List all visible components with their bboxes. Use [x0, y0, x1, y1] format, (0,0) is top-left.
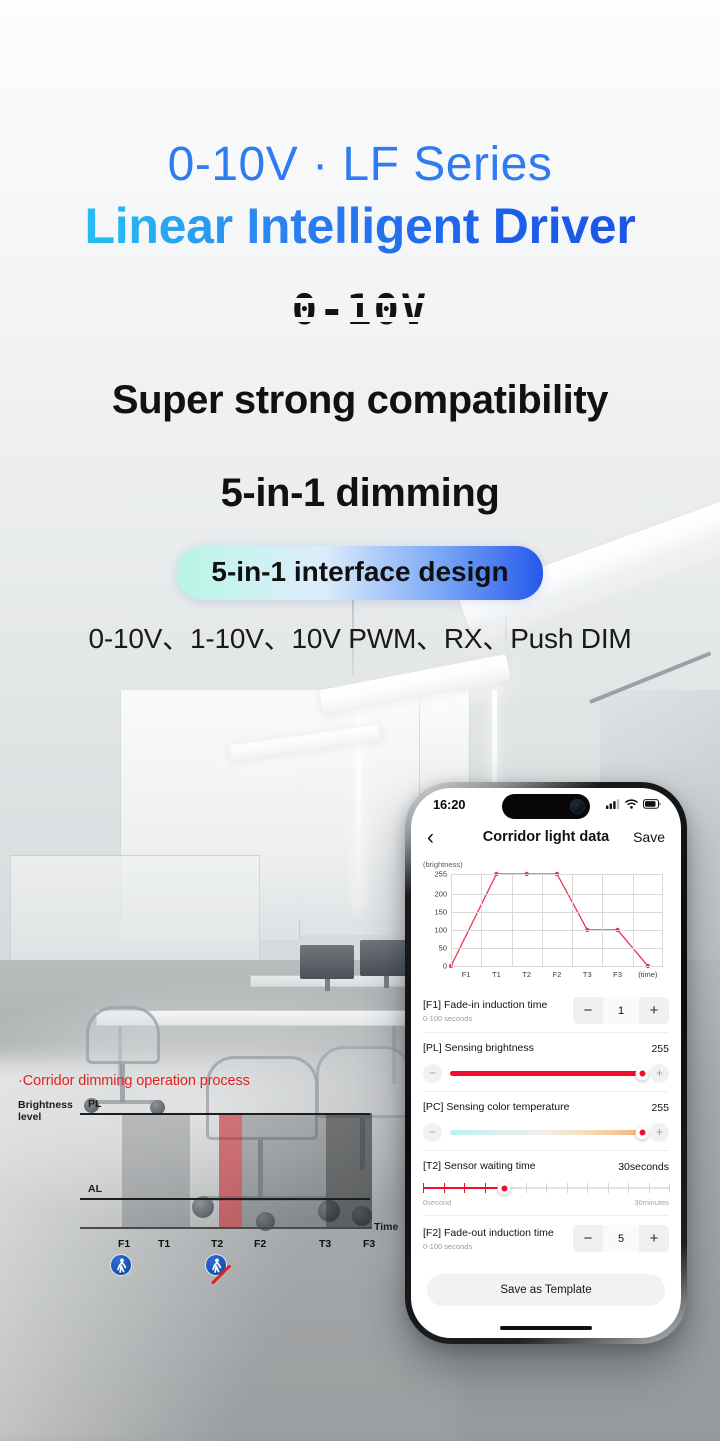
- chart-gridline-v: [542, 874, 543, 966]
- chart-gridline-v: [633, 874, 634, 966]
- tick-mark: [669, 1183, 670, 1193]
- setting-range-hint: 0-100 seconds: [423, 1242, 554, 1251]
- phone-screen: 16:20: [411, 788, 681, 1338]
- chart-gridline-v: [572, 874, 573, 966]
- battery-icon: [643, 799, 661, 809]
- diagram-time-axis: [80, 1227, 372, 1229]
- diagram-x-tick: F3: [363, 1238, 375, 1250]
- tick-slider-min-label: 0second: [423, 1198, 451, 1207]
- pedestrian-no-walking-icon: [205, 1254, 227, 1276]
- chart-gridline-h: 200: [451, 894, 663, 895]
- chart-gridline-v: [662, 874, 663, 966]
- setting-label: [PL] Sensing brightness: [423, 1042, 534, 1055]
- tick-mark: [587, 1183, 588, 1193]
- pedestrian-walking-icon: [110, 1254, 132, 1276]
- signal-bars-icon: [606, 799, 620, 809]
- chart-gridline-v: [602, 874, 603, 966]
- brightness-time-chart: (brightness) 050100150200255F1T1T2F2T3F3…: [421, 860, 671, 988]
- monitor-stand: [325, 979, 330, 991]
- chart-x-tick-label: (time): [638, 970, 657, 979]
- setting-label: [F2] Fade-out induction time: [423, 1227, 554, 1240]
- corridor-dimming-diagram: ·Corridor dimming operation process Brig…: [14, 1068, 414, 1283]
- chart-gridline-h: 0: [451, 966, 663, 967]
- diagram-al-line: [80, 1198, 370, 1200]
- setting-row-pl-sensing-brightness: [PL] Sensing brightness 255 − +: [423, 1032, 669, 1091]
- monitor-stand: [384, 976, 389, 988]
- stepper-value[interactable]: 1: [603, 997, 639, 1024]
- chart-y-tick-label: 255: [434, 870, 447, 879]
- diagram-x-tick: T2: [211, 1238, 223, 1250]
- tick-mark: [567, 1183, 568, 1193]
- diagram-y-axis-label: Brightness level: [18, 1099, 73, 1123]
- chart-x-tick-label: F2: [553, 970, 562, 979]
- diagram-y-axis-label-line2: level: [18, 1111, 41, 1123]
- setting-label: [T2] Sensor waiting time: [423, 1160, 536, 1173]
- slider-track[interactable]: [450, 1071, 642, 1076]
- tick-slider-max-label: 30minutes: [634, 1198, 669, 1207]
- chart-x-tick-label: T1: [492, 970, 501, 979]
- diagram-level-pl-label: PL: [88, 1098, 101, 1110]
- headline-line1: Super strong compatibility: [0, 374, 720, 427]
- headline-line2: 5-in-1 dimming: [0, 467, 720, 520]
- header-section: 0-10V · LF Series Linear Intelligent Dri…: [0, 0, 720, 656]
- chart-x-tick-label: T3: [583, 970, 592, 979]
- status-bar-indicators: [606, 799, 661, 809]
- chart-gridline-h: 50: [451, 948, 663, 949]
- chart-y-tick-label: 50: [439, 943, 447, 952]
- diagram-y-axis-label-line1: Brightness: [18, 1099, 73, 1111]
- phone-mockup: 16:20: [405, 782, 687, 1344]
- chart-x-tick-label: F1: [462, 970, 471, 979]
- setting-row-pc-color-temperature: [PC] Sensing color temperature 255 − +: [423, 1091, 669, 1150]
- slider-thumb[interactable]: [636, 1126, 649, 1139]
- home-indicator: [500, 1326, 592, 1330]
- slider-pl[interactable]: − +: [423, 1064, 669, 1083]
- chart-gridline-h: 100: [451, 930, 663, 931]
- diagram-pl-line: [80, 1113, 370, 1115]
- tick-mark: [628, 1183, 629, 1193]
- stepper-f2[interactable]: − 5 +: [573, 1225, 669, 1252]
- chart-x-tick-label: T2: [522, 970, 531, 979]
- diagram-x-tick: T3: [319, 1238, 331, 1250]
- tick-mark: [423, 1183, 424, 1193]
- diagram-x-tick: F1: [118, 1238, 130, 1250]
- setting-value: 255: [651, 1102, 669, 1114]
- dynamic-island: [502, 794, 590, 819]
- settings-list: [F1] Fade-in induction time 0-100 second…: [411, 988, 681, 1260]
- chart-y-tick-label: 200: [434, 889, 447, 898]
- status-bar: 16:20: [411, 788, 681, 820]
- slider-track[interactable]: [450, 1130, 642, 1135]
- zero-to-ten-volt-logo: 0-10V: [292, 286, 428, 334]
- diagram-x-tick: T1: [158, 1238, 170, 1250]
- stepper-value[interactable]: 5: [603, 1225, 639, 1252]
- increment-button[interactable]: +: [650, 1064, 669, 1083]
- slider-thumb[interactable]: [636, 1067, 649, 1080]
- diagram-title: ·Corridor dimming operation process: [18, 1072, 250, 1090]
- diagram-zone-shade: [326, 1113, 372, 1227]
- chart-plot-area: 050100150200255F1T1T2F2T3F3(time): [451, 874, 663, 966]
- diagram-level-al-label: AL: [88, 1183, 102, 1195]
- chart-y-tick-label: 0: [443, 962, 447, 971]
- tick-mark: [464, 1183, 465, 1193]
- front-camera-icon: [570, 799, 585, 814]
- stepper-f1[interactable]: − 1 +: [573, 997, 669, 1024]
- tick-slider-track[interactable]: [423, 1182, 669, 1194]
- setting-label: [F1] Fade-in induction time: [423, 999, 547, 1012]
- decrement-button[interactable]: −: [423, 1064, 442, 1083]
- chart-gridline-v: [451, 874, 452, 966]
- tick-mark: [444, 1183, 445, 1193]
- chart-gridline-h: 150: [451, 912, 663, 913]
- tick-mark: [526, 1183, 527, 1193]
- slider-pc[interactable]: − +: [423, 1123, 669, 1142]
- increment-button[interactable]: +: [639, 1225, 669, 1252]
- chart-gridline-v: [481, 874, 482, 966]
- chevron-left-icon[interactable]: ‹: [427, 827, 453, 848]
- setting-value: 30seconds: [618, 1161, 669, 1173]
- setting-row-t2-sensor-waiting-time: [T2] Sensor waiting time 30seconds 0seco…: [423, 1150, 669, 1215]
- diagram-x-tick-labels: F1 T1 T2 F2 T3 F3: [80, 1238, 380, 1252]
- chart-data-points: [451, 874, 663, 966]
- setting-range-hint: 0-100 seconds: [423, 1014, 547, 1023]
- chart-gridline-v: [512, 874, 513, 966]
- status-bar-time: 16:20: [433, 797, 465, 812]
- setting-row-f2-fade-out: [F2] Fade-out induction time 0-100 secon…: [423, 1215, 669, 1260]
- decrement-button[interactable]: −: [573, 1225, 603, 1252]
- chart-y-tick-label: 150: [434, 907, 447, 916]
- setting-value: 255: [651, 1043, 669, 1055]
- tick-mark: [546, 1183, 547, 1193]
- decrement-button[interactable]: −: [423, 1123, 442, 1142]
- product-promo-page: 0-10V · LF Series Linear Intelligent Dri…: [0, 0, 720, 1441]
- slider-track-wrap[interactable]: [450, 1127, 642, 1139]
- slider-fill: [450, 1071, 642, 1076]
- slider-thumb[interactable]: [498, 1182, 511, 1195]
- chart-y-tick-label: 100: [434, 925, 447, 934]
- setting-row-f1-fade-in: [F1] Fade-in induction time 0-100 second…: [423, 988, 669, 1032]
- tick-mark: [485, 1183, 486, 1193]
- supported-protocols-text: 0-10V、1-10V、10V PWM、RX、Push DIM: [0, 622, 720, 656]
- save-as-template-button[interactable]: Save as Template: [427, 1274, 665, 1306]
- save-button[interactable]: Save: [633, 829, 665, 845]
- chart-gridline-h: 255: [451, 874, 663, 875]
- decrement-button[interactable]: −: [573, 997, 603, 1024]
- monitor: [300, 945, 354, 979]
- tick-mark: [649, 1183, 650, 1193]
- increment-button[interactable]: +: [639, 997, 669, 1024]
- wifi-icon: [625, 799, 638, 809]
- diagram-x-tick: F2: [254, 1238, 266, 1250]
- app-nav-bar: ‹ Corridor light data Save: [411, 820, 681, 854]
- slider-track-wrap[interactable]: [450, 1068, 642, 1080]
- increment-button[interactable]: +: [650, 1123, 669, 1142]
- page-title-line1: 0-10V · LF Series: [0, 136, 720, 194]
- slider-t2[interactable]: 0second 30minutes: [423, 1182, 669, 1207]
- setting-label: [PC] Sensing color temperature: [423, 1101, 570, 1114]
- interface-design-badge: 5-in-1 interface design: [177, 546, 542, 600]
- chart-y-axis-title: (brightness): [423, 860, 463, 869]
- page-title-line2: Linear Intelligent Driver: [0, 196, 720, 256]
- diagram-x-axis-label: Time: [374, 1221, 398, 1233]
- tick-slider-end-labels: 0second 30minutes: [423, 1198, 669, 1207]
- chart-x-tick-label: F3: [613, 970, 622, 979]
- office-chair: [86, 1006, 160, 1064]
- tick-mark: [608, 1183, 609, 1193]
